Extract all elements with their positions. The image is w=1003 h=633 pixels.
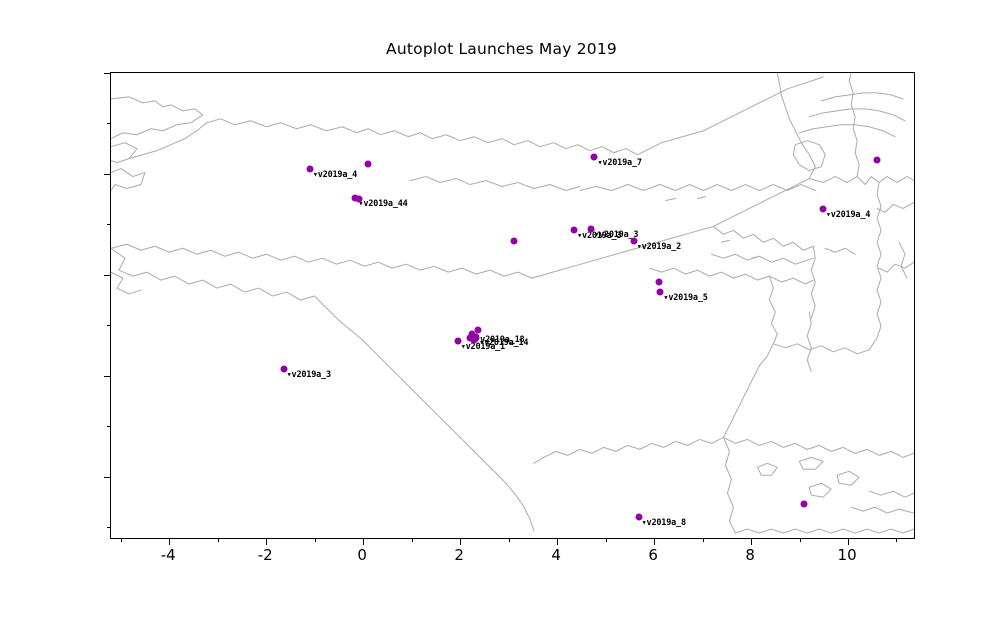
data-point-marker — [510, 238, 517, 245]
data-point-label: ▾v2019a_5 — [663, 293, 707, 303]
coastline-paths — [111, 73, 914, 538]
data-point-label: ▾v2019a_7 — [597, 158, 641, 168]
data-point-label: ▾v2019a_4 — [313, 170, 357, 180]
x-tick-label: -4 — [138, 546, 198, 564]
data-point-label: ▾v2019a_2 — [637, 242, 681, 252]
x-tick-label: 8 — [720, 546, 780, 564]
data-point-marker — [874, 157, 881, 164]
figure-canvas: Autoplot Launches May 2019 — [0, 0, 1003, 633]
data-point-marker — [364, 160, 371, 167]
plot-axes: ▾v2019a_4▾v2019a_44▾v2019a_3▾v2019a_1▾v2… — [110, 72, 915, 539]
data-point-marker — [474, 327, 481, 334]
data-point-label: ▾v2019a_14 — [479, 338, 528, 348]
data-point-marker — [655, 279, 662, 286]
x-tick-label: -2 — [235, 546, 295, 564]
x-tick-label: 6 — [623, 546, 683, 564]
data-point-label: ▾v2019a_8 — [642, 518, 686, 528]
data-point-marker — [466, 335, 473, 342]
x-tick-label: 4 — [526, 546, 586, 564]
basemap-layer — [111, 73, 914, 538]
x-tick-label: 10 — [817, 546, 877, 564]
data-point-label: ▾v2019a_44 — [358, 199, 407, 209]
data-point-label: ▾v2019a_4 — [826, 210, 870, 220]
data-point-marker — [356, 195, 363, 202]
x-tick-label: 0 — [332, 546, 392, 564]
page-title: Autoplot Launches May 2019 — [0, 40, 1003, 58]
data-point-label: ▾v2019a_3 — [287, 370, 331, 380]
x-tick-label: 2 — [429, 546, 489, 564]
data-point-marker — [801, 500, 808, 507]
